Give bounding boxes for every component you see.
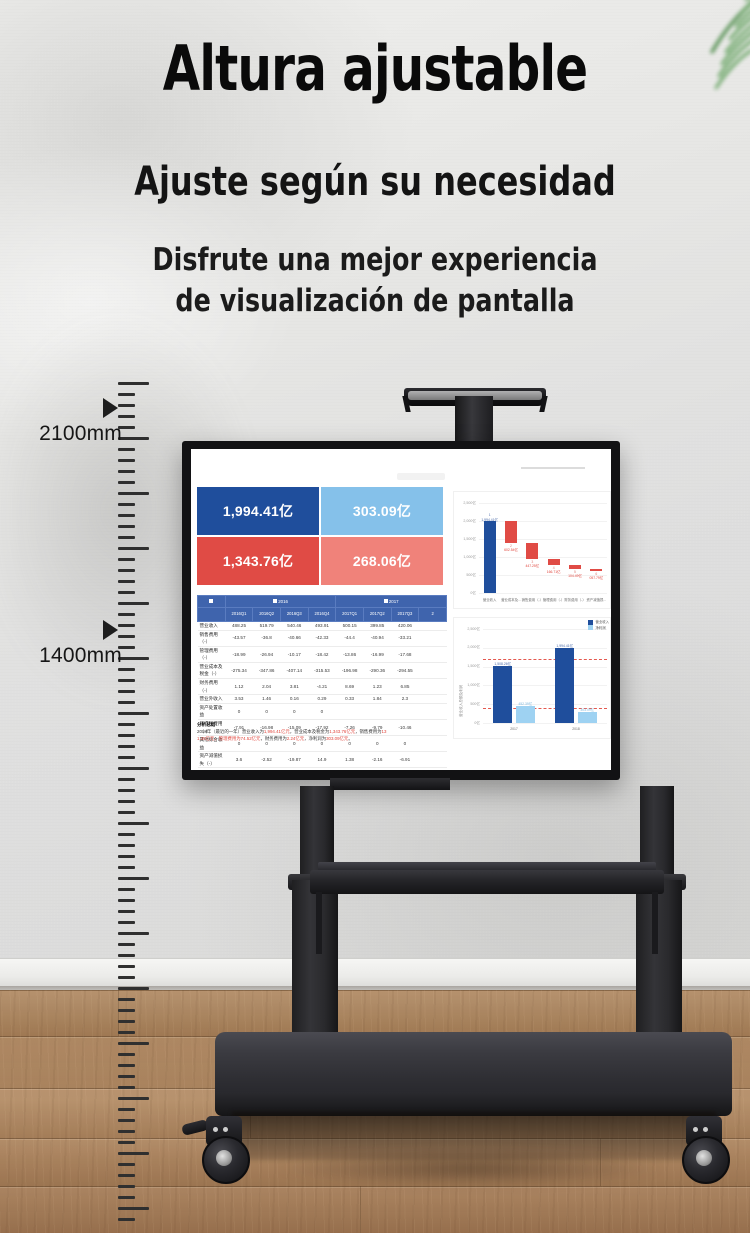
- chart-legend-label: 净利润: [595, 626, 605, 630]
- ruler-tick-minor: [118, 1086, 135, 1089]
- waterfall-chart[interactable]: 0亿500亿1,000亿1,500亿2,000亿2,500亿11,994.41亿…: [453, 491, 611, 609]
- ruler-marker-label: 1400mm: [39, 644, 122, 668]
- table-cell-value: [419, 703, 447, 719]
- waterfall-bar[interactable]: [590, 569, 602, 571]
- summary-highlight: 1,343.76亿元: [329, 729, 355, 734]
- ruler-tick-minor: [118, 679, 135, 682]
- financial-data-table[interactable]: 2016 2017 2016Q12016Q22016Q32016Q42017Q1…: [197, 595, 447, 720]
- table-cell-value: -26.94: [253, 646, 281, 662]
- table-cell-value: 0: [253, 703, 281, 719]
- kpi-card-group: 1,994.41亿 303.09亿 1,343.76亿 268.06亿: [197, 487, 447, 587]
- ruler-tick-minor: [118, 888, 135, 891]
- chart-gridline: [483, 648, 607, 649]
- chart-legend-item[interactable]: 净利润: [588, 625, 609, 631]
- chart-y-tick-label: 1,500亿: [463, 664, 480, 669]
- table-group-header-row: 2016 2017: [198, 596, 447, 608]
- table-cell-value: [419, 622, 447, 631]
- table-cell-value: 0: [225, 703, 253, 719]
- ruler-tick-minor: [118, 635, 135, 638]
- table-cell-value: -36.8: [253, 630, 281, 646]
- display-mount-foot: [330, 778, 450, 790]
- ruler-tick-minor: [118, 745, 135, 748]
- table-header-2017Q2: 2017Q2: [363, 608, 391, 622]
- ruler-tick-minor: [118, 756, 135, 759]
- kpi-card-other[interactable]: 268.06亿: [321, 537, 443, 585]
- table-cell-value: 420.06: [391, 622, 419, 631]
- ruler-tick-minor: [118, 536, 135, 539]
- bi-dashboard: 1,994.41亿 303.09亿 1,343.76亿 268.06亿: [191, 449, 611, 770]
- table-cell-value: 0: [308, 703, 336, 719]
- table-cell-value: 0: [280, 703, 308, 719]
- table-header-metric: [198, 608, 226, 622]
- kpi-card-net-profit[interactable]: 303.09亿: [321, 487, 443, 535]
- table-header-2016Q1: 2016Q1: [225, 608, 253, 622]
- ruler-tick-major: [118, 1152, 149, 1155]
- ruler-tick-minor: [118, 393, 135, 396]
- table-group-corner: [198, 596, 226, 608]
- chart-legend-label: 营业收入: [595, 620, 609, 624]
- table-cell-value: 14.9: [308, 752, 336, 768]
- table-cell-value: -43.57: [225, 630, 253, 646]
- grouped-bar[interactable]: [578, 712, 597, 723]
- chart-category-label: 2018: [545, 727, 607, 731]
- mid-shelf-leg-left: [316, 892, 322, 954]
- summary-highlight: 1.26亿元，管理费用为: [197, 736, 241, 741]
- table-cell-value: -2.16: [363, 752, 391, 768]
- summary-text: ，净利润为: [304, 736, 326, 741]
- table-cell-label: 营业成本及税金（-）: [198, 662, 226, 678]
- ruler-tick-minor: [118, 833, 135, 836]
- table-row: 营业成本及税金（-）-275.34-347.86-407.14-315.53-1…: [198, 662, 447, 678]
- kpi-value: 1,343.76亿: [223, 551, 293, 571]
- table-cell-label: 营业外收入: [198, 695, 226, 704]
- table-cell-value: [336, 703, 364, 719]
- table-cell-value: 3.81: [280, 679, 308, 695]
- mid-shelf-leg-right: [652, 892, 658, 954]
- ruler-tick-minor: [118, 591, 135, 594]
- ruler-tick-major: [118, 1042, 149, 1045]
- ruler-tick-minor: [118, 899, 135, 902]
- chart-gridline: [479, 539, 607, 540]
- table-cell-value: -42.33: [308, 630, 336, 646]
- table-cell-value: 1.38: [336, 752, 364, 768]
- table-cell-value: -2.52: [253, 752, 281, 768]
- table-cell-value: [419, 695, 447, 704]
- table-cell-value: -347.86: [253, 662, 281, 678]
- summary-highlight: 13: [382, 729, 387, 734]
- table-cell-value: [419, 646, 447, 662]
- table-cell-value: 2.04: [253, 679, 281, 695]
- grouped-bar[interactable]: [516, 706, 535, 723]
- summary-text: ，营业成本及税金为: [290, 729, 330, 734]
- ruler-tick-minor: [118, 448, 135, 451]
- mid-shelf: [310, 870, 664, 894]
- ruler-tick-minor: [118, 481, 135, 484]
- chart-y-tick-label: 2,000亿: [453, 519, 476, 524]
- table-cell-label: 资产处置收益: [198, 703, 226, 719]
- table-cell-label: 资产减值损失（-）: [198, 752, 226, 768]
- table-cell-value: 493.91: [308, 622, 336, 631]
- table-row: 营业收入488.25519.79540.46493.91500.15399.85…: [198, 622, 447, 631]
- ruler-tick-minor: [118, 1031, 135, 1034]
- table-group-header-2017: 2017: [336, 596, 447, 608]
- chart-y-tick-label: 500亿: [463, 702, 480, 707]
- table-header-2017Q1: 2017Q1: [336, 608, 364, 622]
- waterfall-bar[interactable]: [548, 559, 560, 565]
- table-cell-value: [391, 703, 419, 719]
- ruler-tick-minor: [118, 525, 135, 528]
- ruler-tick-minor: [118, 514, 135, 517]
- ruler-tick-minor: [118, 1130, 135, 1133]
- chart-y-tick-label: 1,000亿: [453, 555, 476, 560]
- table-cell-value: 488.25: [225, 622, 253, 631]
- table-cell-label: 管理费用（-）: [198, 646, 226, 662]
- ruler-tick-minor: [118, 558, 135, 561]
- table-cell-label: 销售费用（-）: [198, 630, 226, 646]
- table-row: 销售费用（-）-43.57-36.8-40.66-42.33-44.4-40.9…: [198, 630, 447, 646]
- table-cell-value: 8.69: [336, 679, 364, 695]
- ruler-tick-major: [118, 657, 149, 660]
- ruler-tick-major: [118, 1207, 149, 1210]
- ruler-tick-minor: [118, 690, 135, 693]
- chart-category-label: 资产减值损...: [583, 597, 610, 602]
- table-cell-value: 0.33: [336, 695, 364, 704]
- chart-y-tick-label: 0亿: [453, 591, 476, 596]
- page-description: Disfrute una mejor experiencia de visual…: [68, 240, 683, 322]
- ruler-tick-minor: [118, 1163, 135, 1166]
- table-cell-value: [419, 630, 447, 646]
- grouped-bar-value-label: 1,508.26亿: [484, 661, 521, 666]
- table-cell-label: 财务费用（-）: [198, 679, 226, 695]
- table-cell-value: 500.15: [336, 622, 364, 631]
- ruler-tick-minor: [118, 921, 135, 924]
- summary-highlight: 1,994.41亿元: [264, 729, 290, 734]
- table-cell-value: -18.99: [225, 646, 253, 662]
- waterfall-bar-value-label: 1,994.41亿: [476, 517, 504, 522]
- display-screen: 1,994.41亿 303.09亿 1,343.76亿 268.06亿: [191, 449, 611, 770]
- summary-highlight: 303.09亿元: [326, 736, 348, 741]
- display-bezel: 1,994.41亿 303.09亿 1,343.76亿 268.06亿: [182, 441, 620, 780]
- table-cell-value: [419, 662, 447, 678]
- table-cell-value: -17.68: [391, 646, 419, 662]
- ruler-tick-minor: [118, 1075, 135, 1078]
- description-line-2: de visualización de pantalla: [68, 281, 683, 322]
- table-cell-value: 540.46: [280, 622, 308, 631]
- table-cell-value: [419, 679, 447, 695]
- chart-gridline: [483, 723, 607, 724]
- ruler-tick-major: [118, 822, 149, 825]
- ruler-tick-minor: [118, 459, 135, 462]
- table-header-2016Q4: 2016Q4: [308, 608, 336, 622]
- ruler-tick-minor: [118, 668, 135, 671]
- table-cell-value: -10.17: [280, 646, 308, 662]
- table-cell-value: -275.34: [225, 662, 253, 678]
- chart-y-tick-label: 2,500亿: [463, 627, 480, 632]
- chart-gridline: [479, 557, 607, 558]
- ruler-tick-minor: [118, 613, 135, 616]
- ruler-tick-minor: [118, 1174, 135, 1177]
- table-row: 财务费用（-）1.122.043.81-4.218.691.236.85: [198, 679, 447, 695]
- ruler-tick-minor: [118, 866, 135, 869]
- ruler-tick-major: [118, 382, 149, 385]
- column-lower-left: [292, 880, 338, 1050]
- ruler-tick-minor: [118, 470, 135, 473]
- summary-text: 。: [348, 736, 352, 741]
- summary-highlight: 74.52亿元: [241, 736, 261, 741]
- table-cell-value: -407.14: [280, 662, 308, 678]
- yearly-comparison-chart[interactable]: 营业收入总额及利润0亿500亿1,000亿1,500亿2,000亿2,500亿营…: [453, 617, 611, 739]
- table-cell-value: [363, 703, 391, 719]
- ruler-tick-minor: [118, 789, 135, 792]
- ruler-tick-major: [118, 492, 149, 495]
- chart-y-tick-label: 0亿: [463, 721, 480, 726]
- ruler-tick-minor: [118, 569, 135, 572]
- grouped-bar-value-label: 452.39亿: [507, 701, 544, 706]
- ruler-tick-major: [118, 602, 149, 605]
- ruler-tick-minor: [118, 844, 135, 847]
- chart-y-tick-label: 2,500亿: [453, 501, 476, 506]
- waterfall-bar-value-label: 602.54亿: [497, 547, 525, 552]
- table-row: 资产减值损失（-）3.6-2.52-19.8714.91.38-2.16-6.9…: [198, 752, 447, 768]
- grouped-bar[interactable]: [493, 666, 512, 723]
- base-platform: [215, 1032, 732, 1100]
- cart-floor-shadow: [190, 1140, 750, 1200]
- ruler-tick-major: [118, 1097, 149, 1100]
- ruler-tick-minor: [118, 1009, 135, 1012]
- table-cell-value: 1.84: [363, 695, 391, 704]
- waterfall-bar-value-label: 057.79亿: [582, 575, 610, 580]
- ruler-tick-minor: [118, 965, 135, 968]
- ruler-tick-minor: [118, 998, 135, 1001]
- ruler-tick-minor: [118, 1108, 135, 1111]
- table-cell-value: -13.86: [336, 646, 364, 662]
- ruler-tick-minor: [118, 954, 135, 957]
- table-cell-label: 营业收入: [198, 622, 226, 631]
- dashboard-toolbar: [191, 449, 611, 487]
- kpi-value: 1,994.41亿: [223, 501, 293, 521]
- analysis-summary: 分析总结: 2018年（最近的一年）营业收入为1,994.41亿元，营业成本及税…: [197, 721, 447, 742]
- ruler-tick-minor: [118, 976, 135, 979]
- table-cell-value: 0.16: [280, 695, 308, 704]
- grouped-bar[interactable]: [555, 648, 574, 723]
- ruler-tick-minor: [118, 1053, 135, 1056]
- ruler-tick-major: [118, 987, 149, 990]
- table-header-2016Q2: 2016Q2: [253, 608, 281, 622]
- kpi-value: 268.06亿: [353, 551, 411, 571]
- ruler-tick-minor: [118, 910, 135, 913]
- ruler-tick-minor: [118, 1119, 135, 1122]
- grouped-bar-value-label: 303.09亿: [569, 707, 606, 712]
- height-ruler: [118, 382, 154, 1222]
- table-cell-value: -19.87: [280, 752, 308, 768]
- page-title: Altura ajustable: [83, 38, 668, 100]
- table-cell-value: -40.66: [280, 630, 308, 646]
- toolbar-ghost-chip: [397, 473, 445, 480]
- table-cell-value: 3.6: [225, 752, 253, 768]
- chart-y-tick-label: 1,500亿: [453, 537, 476, 542]
- summary-line-2: 1.26亿元，管理费用为74.52亿元，财务费用为2.24亿元，净利润为303.…: [197, 735, 447, 742]
- waterfall-bar[interactable]: [484, 521, 496, 593]
- summary-highlight: 2.24亿元: [287, 736, 304, 741]
- ruler-tick-major: [118, 877, 149, 880]
- table-cell-value: 2.3: [391, 695, 419, 704]
- ruler-tick-minor: [118, 1064, 135, 1067]
- ruler-tick-minor: [118, 1185, 135, 1188]
- table-row: 资产处置收益0000: [198, 703, 447, 719]
- table-cell-value: 399.85: [363, 622, 391, 631]
- table-cell-value: 6.85: [391, 679, 419, 695]
- table-cell-value: -196.98: [336, 662, 364, 678]
- table-cell-value: 1.23: [363, 679, 391, 695]
- ruler-marker-triangle-icon: [103, 620, 118, 640]
- grouped-bar-value-label: 1,994.41亿: [546, 643, 583, 648]
- table-row: 管理费用（-）-18.99-26.94-10.17-18.42-13.86-16…: [198, 646, 447, 662]
- toolbar-ghost-line: [521, 467, 585, 469]
- table-body: 营业收入488.25519.79540.46493.91500.15399.85…: [198, 622, 447, 768]
- ruler-tick-minor: [118, 943, 135, 946]
- waterfall-bar[interactable]: [505, 521, 517, 543]
- summary-text: 2018年（最近的一年）营业收入为: [197, 729, 264, 734]
- ruler-tick-major: [118, 437, 149, 440]
- table-cell-value: 519.79: [253, 622, 281, 631]
- table-cell-value: -294.55: [391, 662, 419, 678]
- product-marketing-image: Altura ajustable Ajuste según su necesid…: [0, 0, 750, 1233]
- ruler-tick-minor: [118, 503, 135, 506]
- summary-line-1: 2018年（最近的一年）营业收入为1,994.41亿元，营业成本及税金为1,34…: [197, 728, 447, 735]
- summary-text: ，财务费用为: [260, 736, 286, 741]
- ruler-tick-minor: [118, 811, 135, 814]
- column-lower-right: [636, 880, 682, 1050]
- table-cell-value: -40.94: [363, 630, 391, 646]
- ruler-tick-minor: [118, 1141, 135, 1144]
- table-cell-value: -33.21: [391, 630, 419, 646]
- chart-legend-item[interactable]: 营业收入: [588, 619, 609, 625]
- ruler-tick-minor: [118, 415, 135, 418]
- chart-y-tick-label: 1,000亿: [463, 683, 480, 688]
- table-header-2: 2: [419, 608, 447, 622]
- table-cell-value: [419, 752, 447, 768]
- ruler-tick-major: [118, 932, 149, 935]
- table-head: 2016 2017 2016Q12016Q22016Q32016Q42017Q1…: [198, 596, 447, 622]
- table-group-header-2016: 2016: [225, 596, 336, 608]
- table-column-header-row: 2016Q12016Q22016Q32016Q42017Q12017Q22017…: [198, 608, 447, 622]
- camera-shelf-post: [455, 396, 493, 446]
- ruler-tick-minor: [118, 580, 135, 583]
- waterfall-bar[interactable]: [569, 565, 581, 569]
- chart-y-tick-label: 500亿: [453, 573, 476, 578]
- ruler-tick-minor: [118, 701, 135, 704]
- ruler-tick-minor: [118, 855, 135, 858]
- kpi-value: 303.09亿: [353, 501, 411, 521]
- ruler-tick-major: [118, 767, 149, 770]
- table-cell-value: 1.46: [253, 695, 281, 704]
- ruler-tick-minor: [118, 624, 135, 627]
- page-subtitle: Ajuste según su necesidad: [75, 162, 675, 202]
- description-line-1: Disfrute una mejor experiencia: [68, 240, 683, 281]
- ruler-tick-minor: [118, 1020, 135, 1023]
- ruler-tick-major: [118, 712, 149, 715]
- ruler-tick-minor: [118, 1196, 135, 1199]
- table-row: 营业外收入3.531.460.160.290.331.842.3: [198, 695, 447, 704]
- kpi-card-cost[interactable]: 1,343.76亿: [197, 537, 319, 585]
- ruler-tick-minor: [118, 800, 135, 803]
- table-cell-value: 1.12: [225, 679, 253, 695]
- ruler-tick-minor: [118, 734, 135, 737]
- table-cell-value: -315.53: [308, 662, 336, 678]
- table-cell-value: -4.21: [308, 679, 336, 695]
- ruler-marker-triangle-icon: [103, 398, 118, 418]
- table-cell-value: 3.53: [225, 695, 253, 704]
- summary-title: 分析总结:: [197, 721, 447, 728]
- ruler-tick-minor: [118, 723, 135, 726]
- waterfall-bar[interactable]: [526, 543, 538, 559]
- kpi-card-revenue[interactable]: 1,994.41亿: [197, 487, 319, 535]
- table-cell-value: -44.4: [336, 630, 364, 646]
- table-cell-value: -18.42: [308, 646, 336, 662]
- chart-legend: 营业收入净利润: [588, 619, 609, 630]
- ruler-tick-minor: [118, 778, 135, 781]
- ruler-tick-minor: [118, 404, 135, 407]
- ruler-tick-minor: [118, 1218, 135, 1221]
- chart-reference-line: [483, 659, 607, 660]
- table-cell-value: -16.99: [363, 646, 391, 662]
- chart-category-label: 2017: [483, 727, 545, 731]
- table-header-2016Q3: 2016Q3: [280, 608, 308, 622]
- ruler-tick-major: [118, 547, 149, 550]
- table-cell-value: 0.29: [308, 695, 336, 704]
- chart-gridline: [479, 593, 607, 594]
- table-header-2017Q3: 2017Q3: [391, 608, 419, 622]
- ruler-marker-label: 2100mm: [39, 422, 122, 446]
- table-cell-value: -6.91: [391, 752, 419, 768]
- chart-gridline: [479, 503, 607, 504]
- table-cell-value: -290.36: [363, 662, 391, 678]
- chart-y-tick-label: 2,000亿: [463, 645, 480, 650]
- summary-text: ，销售费用为: [355, 729, 381, 734]
